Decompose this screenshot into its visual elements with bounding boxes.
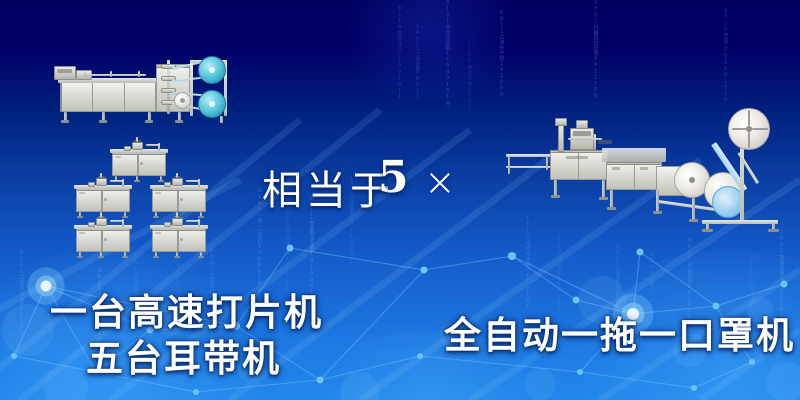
digital-rain-column: 0110数字化工厂1001011 <box>396 6 403 100</box>
digital-rain-column: 0011口罩生产线101000 <box>498 10 505 98</box>
digital-rain-column: 1100精密机械0111 <box>466 40 473 110</box>
machine-ear-band-5 <box>150 216 212 256</box>
machine-automatic-mask-line <box>506 104 782 234</box>
digital-rain-column: 0101自动化控制11000101自 <box>444 0 451 106</box>
machine-ear-band-4 <box>74 216 136 256</box>
digital-rain-column: 0110张力控制100101 <box>556 230 563 313</box>
digital-rain-column: 1001工业互联00111 <box>414 24 421 101</box>
machine-ear-band-1 <box>110 140 172 180</box>
glow-top <box>330 0 530 100</box>
right-caption-line-1: 全自动一拖一口罩机 <box>444 305 795 359</box>
digital-rain-column: 1010智慧工厂01101010 <box>722 8 729 103</box>
digital-rain-column: 0101口罩机械设备011001 <box>18 250 25 343</box>
multiplier-count: 5 <box>378 152 409 203</box>
machine-ear-band-2 <box>74 176 136 216</box>
machine-ear-band-3 <box>150 176 212 216</box>
multiplier-sign: × <box>424 160 456 204</box>
comparison-label: 相当于 <box>262 158 394 216</box>
machine-high-speed-sheet <box>48 46 228 124</box>
promo-banner: 0101口罩机械设备0110011100自动化生产线0110011高速打片机10… <box>0 0 800 400</box>
digital-rain-column: 1001机器视觉检测0011100 <box>592 0 599 99</box>
left-caption-line-2: 五台耳带机 <box>86 328 281 382</box>
